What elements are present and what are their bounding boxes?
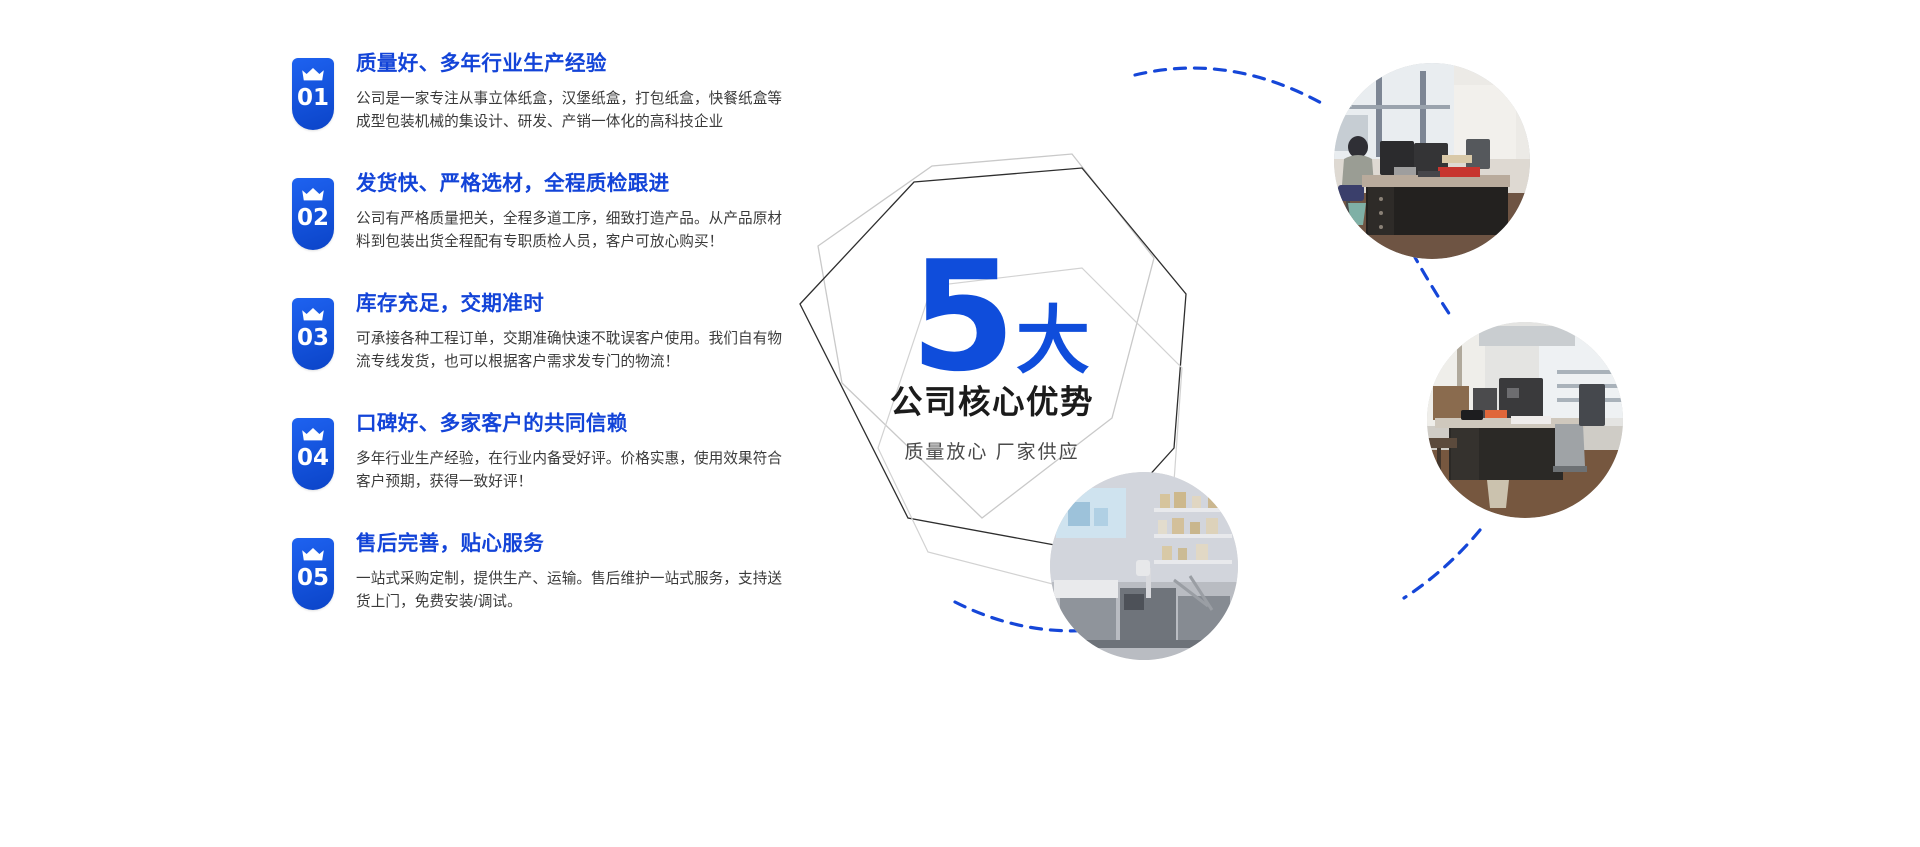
badge-number: 03 xyxy=(297,327,329,350)
badge-05: 05 xyxy=(292,538,334,610)
feature-text: 发货快、严格选材，全程质检跟进 公司有严格质量把关，全程多道工序，细致打造产品。… xyxy=(356,172,792,255)
crown-icon xyxy=(301,307,325,322)
feature-item-02: 02 发货快、严格选材，全程质检跟进 公司有严格质量把关，全程多道工序，细致打造… xyxy=(292,172,792,262)
crown-icon xyxy=(301,547,325,562)
feature-description: 可承接各种工程订单，交期准确快速不耽误客户使用。我们自有物流专线发货，也可以根据… xyxy=(356,328,792,375)
feature-description: 一站式采购定制，提供生产、运输。售后维护一站式服务，支持送货上门，免费安装/调试… xyxy=(356,568,792,615)
feature-title: 库存充足，交期准时 xyxy=(356,292,792,317)
feature-text: 库存充足，交期准时 可承接各种工程订单，交期准确快速不耽误客户使用。我们自有物流… xyxy=(356,292,792,375)
office-workstation-photo xyxy=(1334,63,1530,259)
feature-title: 发货快、严格选材，全程质检跟进 xyxy=(356,172,792,197)
feature-description: 公司是一家专注从事立体纸盒，汉堡纸盒，打包纸盒，快餐纸盒等成型包装机械的集设计、… xyxy=(356,88,792,135)
feature-title: 售后完善，贴心服务 xyxy=(356,532,792,557)
badge-03: 03 xyxy=(292,298,334,370)
factory-machinery-photo xyxy=(1050,472,1238,660)
badge-01: 01 xyxy=(292,58,334,130)
feature-title: 质量好、多年行业生产经验 xyxy=(356,52,792,77)
feature-description: 公司有严格质量把关，全程多道工序，细致打造产品。从产品原材料到包装出货全程配有专… xyxy=(356,208,792,255)
promo-banner: 01 质量好、多年行业生产经验 公司是一家专注从事立体纸盒，汉堡纸盒，打包纸盒，… xyxy=(0,0,1920,847)
feature-title: 口碑好、多家客户的共同信赖 xyxy=(356,412,792,437)
crown-icon xyxy=(301,427,325,442)
badge-02: 02 xyxy=(292,178,334,250)
badge-04: 04 xyxy=(292,418,334,490)
badge-number: 01 xyxy=(297,87,329,110)
feature-text: 售后完善，贴心服务 一站式采购定制，提供生产、运输。售后维护一站式服务，支持送货… xyxy=(356,532,792,615)
feature-item-01: 01 质量好、多年行业生产经验 公司是一家专注从事立体纸盒，汉堡纸盒，打包纸盒，… xyxy=(292,52,792,142)
feature-list: 01 质量好、多年行业生产经验 公司是一家专注从事立体纸盒，汉堡纸盒，打包纸盒，… xyxy=(292,52,792,652)
office-desks-photo xyxy=(1427,322,1623,518)
feature-item-05: 05 售后完善，贴心服务 一站式采购定制，提供生产、运输。售后维护一站式服务，支… xyxy=(292,532,792,622)
badge-number: 02 xyxy=(297,207,329,230)
badge-number: 05 xyxy=(297,567,329,590)
crown-icon xyxy=(301,67,325,82)
feature-item-03: 03 库存充足，交期准时 可承接各种工程订单，交期准确快速不耽误客户使用。我们自… xyxy=(292,292,792,382)
feature-description: 多年行业生产经验，在行业内备受好评。价格实惠，使用效果符合客户预期，获得一致好评… xyxy=(356,448,792,495)
feature-text: 质量好、多年行业生产经验 公司是一家专注从事立体纸盒，汉堡纸盒，打包纸盒，快餐纸… xyxy=(356,52,792,135)
feature-text: 口碑好、多家客户的共同信赖 多年行业生产经验，在行业内备受好评。价格实惠，使用效… xyxy=(356,412,792,495)
crown-icon xyxy=(301,187,325,202)
feature-item-04: 04 口碑好、多家客户的共同信赖 多年行业生产经验，在行业内备受好评。价格实惠，… xyxy=(292,412,792,502)
badge-number: 04 xyxy=(297,447,329,470)
